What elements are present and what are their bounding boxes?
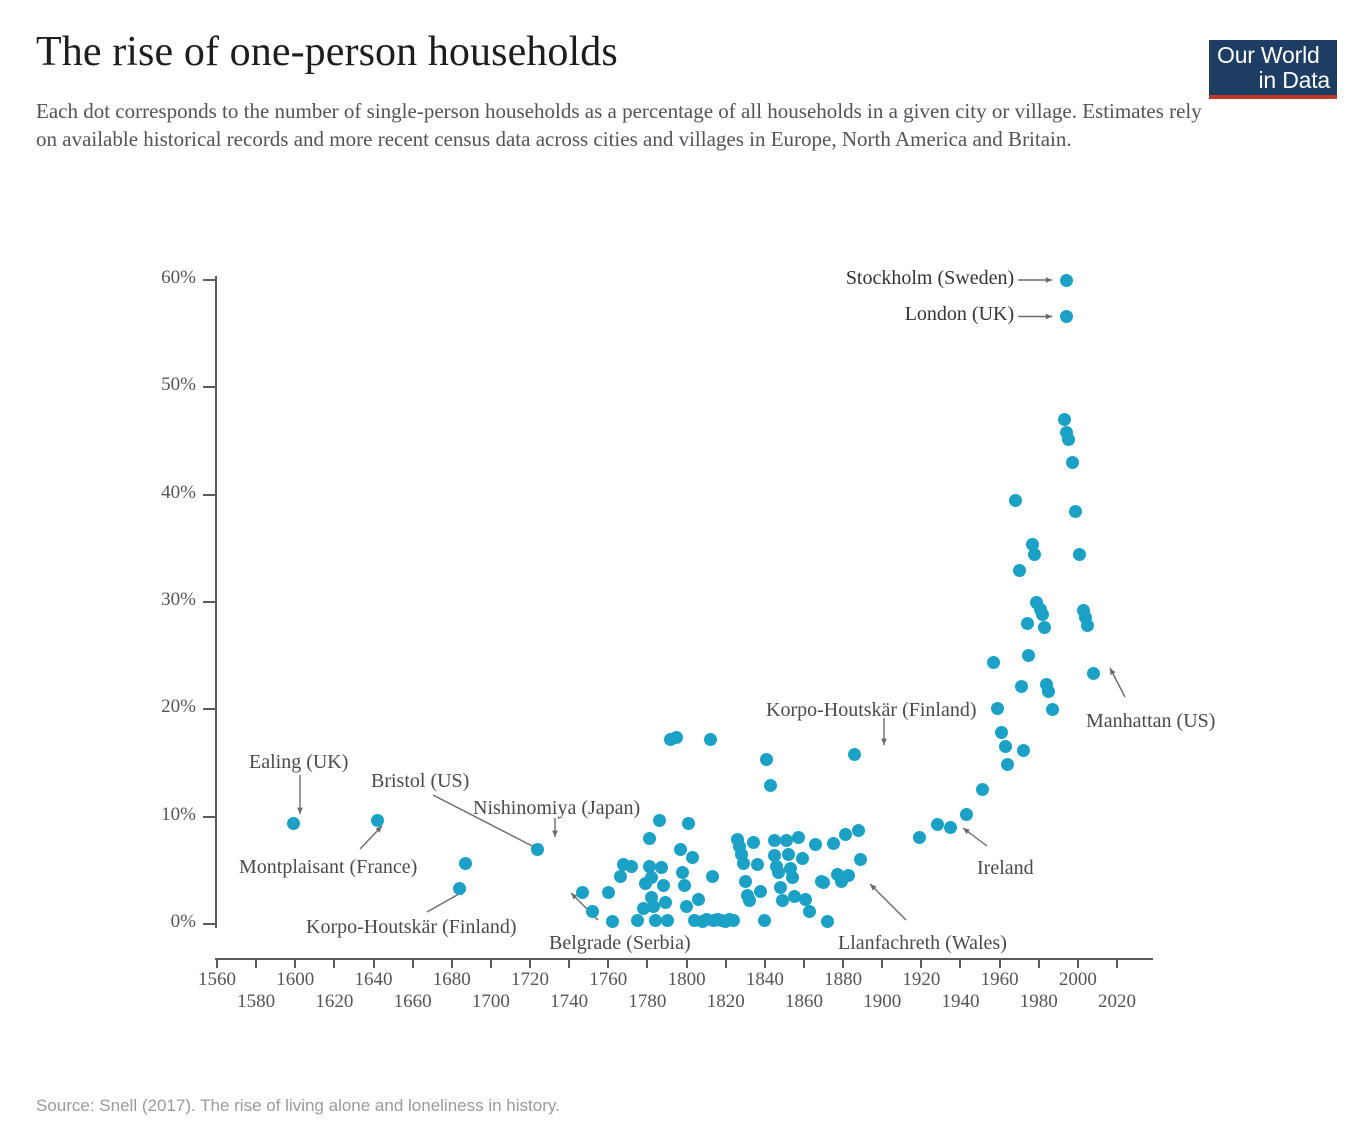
y-axis-tick xyxy=(203,708,215,710)
data-point[interactable] xyxy=(751,858,764,871)
data-point[interactable] xyxy=(786,871,799,884)
data-point[interactable] xyxy=(931,818,944,831)
data-point[interactable] xyxy=(676,866,689,879)
x-axis-label: 1960 xyxy=(970,969,1030,991)
scatter-plot: 0%10%20%30%40%50%60%15601580160016201640… xyxy=(0,0,1358,1146)
data-point[interactable] xyxy=(674,843,687,856)
x-axis-tick xyxy=(803,958,805,968)
data-point[interactable] xyxy=(1042,685,1055,698)
x-axis-tick xyxy=(1077,958,1079,968)
data-point[interactable] xyxy=(625,860,638,873)
data-point[interactable] xyxy=(670,731,683,744)
data-point[interactable] xyxy=(655,861,668,874)
x-axis-label: 1940 xyxy=(930,991,990,1013)
data-point[interactable] xyxy=(576,886,589,899)
x-axis-tick xyxy=(959,958,961,968)
data-point[interactable] xyxy=(796,852,809,865)
x-axis-line xyxy=(215,958,1153,960)
y-axis-label: 60% xyxy=(120,267,196,289)
x-axis-label: 2000 xyxy=(1048,969,1108,991)
x-axis-tick xyxy=(646,958,648,968)
x-axis-label: 1640 xyxy=(344,969,404,991)
x-axis-tick xyxy=(607,958,609,968)
x-axis-tick xyxy=(881,958,883,968)
x-axis-label: 1560 xyxy=(187,969,247,991)
data-point[interactable] xyxy=(1036,608,1049,621)
data-point[interactable] xyxy=(976,783,989,796)
x-axis-label: 1860 xyxy=(774,991,834,1013)
annotation-label: Korpo-Houtskär (Finland) xyxy=(306,916,517,939)
x-axis-tick xyxy=(373,958,375,968)
data-point[interactable] xyxy=(764,779,777,792)
data-point[interactable] xyxy=(743,894,756,907)
data-point[interactable] xyxy=(645,871,658,884)
data-point[interactable] xyxy=(1017,744,1030,757)
x-axis-label: 1700 xyxy=(461,991,521,1013)
data-point[interactable] xyxy=(1081,619,1094,632)
x-axis-label: 1880 xyxy=(813,969,873,991)
data-point[interactable] xyxy=(459,857,472,870)
y-axis-tick xyxy=(203,923,215,925)
data-point[interactable] xyxy=(653,814,666,827)
y-axis-tick xyxy=(203,601,215,603)
annotation-label: Montplaisant (France) xyxy=(239,856,417,879)
x-axis-label: 1800 xyxy=(657,969,717,991)
data-point[interactable] xyxy=(602,886,615,899)
data-point[interactable] xyxy=(821,915,834,928)
data-point[interactable] xyxy=(727,914,740,927)
x-axis-tick xyxy=(255,958,257,968)
x-axis-tick xyxy=(920,958,922,968)
data-point[interactable] xyxy=(809,838,822,851)
data-point[interactable] xyxy=(657,879,670,892)
data-point[interactable] xyxy=(1046,703,1059,716)
data-point[interactable] xyxy=(686,851,699,864)
x-axis-label: 1840 xyxy=(735,969,795,991)
y-axis-label: 40% xyxy=(120,482,196,504)
legend-data-point[interactable] xyxy=(1060,274,1073,287)
data-point[interactable] xyxy=(531,843,544,856)
x-axis-tick xyxy=(216,958,218,968)
y-axis-label: 50% xyxy=(120,374,196,396)
data-point[interactable] xyxy=(649,914,662,927)
data-point[interactable] xyxy=(1073,548,1086,561)
data-point[interactable] xyxy=(1069,505,1082,518)
x-axis-tick xyxy=(529,958,531,968)
annotation-label: Manhattan (US) xyxy=(1086,710,1215,733)
data-point[interactable] xyxy=(842,869,855,882)
annotation-label: Bristol (US) xyxy=(371,770,469,793)
y-axis-tick xyxy=(203,386,215,388)
data-point[interactable] xyxy=(960,808,973,821)
data-point[interactable] xyxy=(680,900,693,913)
legend-data-point[interactable] xyxy=(1060,310,1073,323)
legend-label: Stockholm (Sweden) xyxy=(600,267,1014,290)
data-point[interactable] xyxy=(1062,433,1075,446)
data-point[interactable] xyxy=(1009,494,1022,507)
data-point[interactable] xyxy=(1028,548,1041,561)
data-point[interactable] xyxy=(754,885,767,898)
x-axis-tick xyxy=(490,958,492,968)
x-axis-tick xyxy=(1116,958,1118,968)
data-point[interactable] xyxy=(1013,564,1026,577)
data-point[interactable] xyxy=(647,900,660,913)
y-axis-label: 0% xyxy=(120,911,196,933)
data-point[interactable] xyxy=(792,831,805,844)
data-point[interactable] xyxy=(827,837,840,850)
y-axis-label: 20% xyxy=(120,696,196,718)
data-point[interactable] xyxy=(287,817,300,830)
data-point[interactable] xyxy=(453,882,466,895)
data-point[interactable] xyxy=(817,876,830,889)
data-point[interactable] xyxy=(782,848,795,861)
data-point[interactable] xyxy=(692,893,705,906)
data-point[interactable] xyxy=(780,834,793,847)
x-axis-label: 1920 xyxy=(891,969,951,991)
x-axis-label: 1680 xyxy=(422,969,482,991)
annotation-label: Nishinomiya (Japan) xyxy=(473,797,640,820)
y-axis-line xyxy=(215,276,217,928)
data-point[interactable] xyxy=(854,853,867,866)
x-axis-label: 1740 xyxy=(539,991,599,1013)
data-point[interactable] xyxy=(1021,617,1034,630)
data-point[interactable] xyxy=(1038,621,1051,634)
annotation-label: Ealing (UK) xyxy=(249,751,348,774)
x-axis-tick xyxy=(568,958,570,968)
x-axis-label: 1620 xyxy=(304,991,364,1013)
x-axis-tick xyxy=(725,958,727,968)
data-point[interactable] xyxy=(1001,758,1014,771)
x-axis-label: 1720 xyxy=(500,969,560,991)
data-point[interactable] xyxy=(631,914,644,927)
data-point[interactable] xyxy=(758,914,771,927)
data-point[interactable] xyxy=(1066,456,1079,469)
data-point[interactable] xyxy=(1087,667,1100,680)
data-point[interactable] xyxy=(848,748,861,761)
data-point[interactable] xyxy=(1015,680,1028,693)
data-point[interactable] xyxy=(659,896,672,909)
x-axis-label: 2020 xyxy=(1087,991,1147,1013)
x-axis-label: 1600 xyxy=(265,969,325,991)
x-axis-label: 1580 xyxy=(226,991,286,1013)
y-axis-tick xyxy=(203,279,215,281)
x-axis-tick xyxy=(294,958,296,968)
source-note: Source: Snell (2017). The rise of living… xyxy=(36,1096,560,1116)
data-point[interactable] xyxy=(991,702,1004,715)
data-point[interactable] xyxy=(803,905,816,918)
data-point[interactable] xyxy=(706,870,719,883)
data-point[interactable] xyxy=(661,914,674,927)
x-axis-label: 1760 xyxy=(578,969,638,991)
x-axis-label: 1820 xyxy=(696,991,756,1013)
data-point[interactable] xyxy=(586,905,599,918)
data-point[interactable] xyxy=(747,836,760,849)
data-point[interactable] xyxy=(776,894,789,907)
data-point[interactable] xyxy=(704,733,717,746)
data-point[interactable] xyxy=(682,817,695,830)
annotation-label: Korpo-Houtskär (Finland) xyxy=(766,699,977,722)
x-axis-label: 1980 xyxy=(1009,991,1069,1013)
data-point[interactable] xyxy=(995,726,1008,739)
legend-label: London (UK) xyxy=(600,303,1014,326)
data-point[interactable] xyxy=(371,814,384,827)
x-axis-tick xyxy=(412,958,414,968)
data-point[interactable] xyxy=(1022,649,1035,662)
y-axis-label: 10% xyxy=(120,804,196,826)
x-axis-tick xyxy=(764,958,766,968)
data-point[interactable] xyxy=(987,656,1000,669)
data-point[interactable] xyxy=(799,893,812,906)
data-point[interactable] xyxy=(678,879,691,892)
data-point[interactable] xyxy=(913,831,926,844)
data-point[interactable] xyxy=(1058,413,1071,426)
data-point[interactable] xyxy=(760,753,773,766)
data-point[interactable] xyxy=(999,740,1012,753)
data-point[interactable] xyxy=(739,875,752,888)
annotation-label: Belgrade (Serbia) xyxy=(549,932,691,955)
data-point[interactable] xyxy=(852,824,865,837)
y-axis-tick xyxy=(203,494,215,496)
x-axis-label: 1660 xyxy=(383,991,443,1013)
annotation-label: Ireland xyxy=(977,857,1034,880)
data-point[interactable] xyxy=(643,832,656,845)
chart-page: The rise of one-person households Each d… xyxy=(0,0,1358,1146)
x-axis-tick xyxy=(1038,958,1040,968)
x-axis-tick xyxy=(333,958,335,968)
data-point[interactable] xyxy=(737,857,750,870)
data-point[interactable] xyxy=(839,828,852,841)
x-axis-tick xyxy=(999,958,1001,968)
data-point[interactable] xyxy=(774,881,787,894)
data-point[interactable] xyxy=(944,821,957,834)
x-axis-tick xyxy=(451,958,453,968)
y-axis-label: 30% xyxy=(120,589,196,611)
x-axis-label: 1900 xyxy=(852,991,912,1013)
data-point[interactable] xyxy=(614,870,627,883)
x-axis-tick xyxy=(842,958,844,968)
data-point[interactable] xyxy=(606,915,619,928)
x-axis-label: 1780 xyxy=(617,991,677,1013)
annotation-label: Llanfachreth (Wales) xyxy=(838,932,1007,955)
y-axis-tick xyxy=(203,816,215,818)
x-axis-tick xyxy=(686,958,688,968)
